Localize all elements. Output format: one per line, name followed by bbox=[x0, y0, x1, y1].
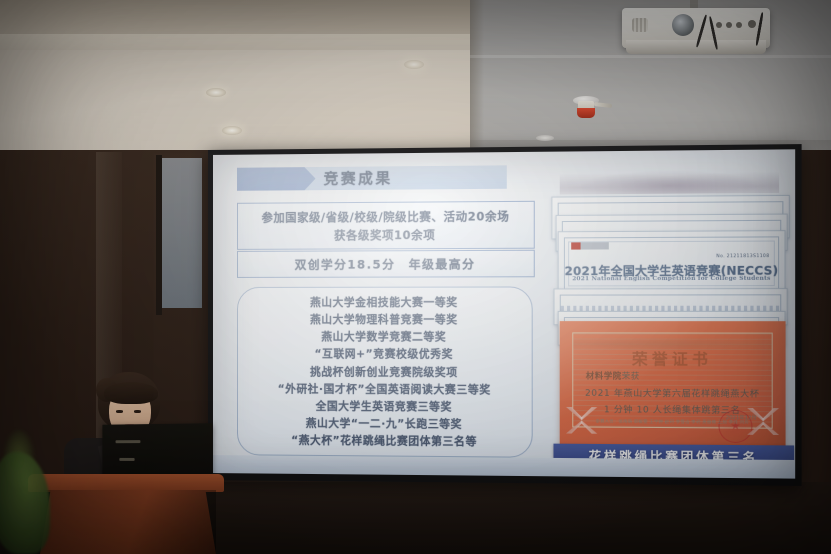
presentation-photo: 竞赛成果 参加国家级/省级/校级/院级比赛、活动20余场 获各级奖项10余项 双… bbox=[0, 0, 831, 554]
neccs-logo-icon bbox=[571, 242, 609, 249]
projector-port bbox=[726, 22, 732, 28]
projection-screen: 竞赛成果 参加国家级/省级/校级/院级比赛、活动20余场 获各级奖项10余项 双… bbox=[208, 144, 802, 486]
slide-title: 竞赛成果 bbox=[324, 164, 508, 191]
certificate-ornament bbox=[560, 166, 779, 194]
list-item: 燕山大学金相技能大赛一等奖 bbox=[310, 294, 458, 309]
list-item: 挑战杯创新创业竞赛院级奖项 bbox=[310, 364, 458, 380]
ceiling-seam bbox=[470, 55, 831, 58]
honour-title: 荣誉证书 bbox=[573, 348, 771, 370]
window bbox=[160, 158, 202, 308]
certificate-stack: No. 21211813S1108 2021年全国大学生英语竞赛(NECCS) … bbox=[549, 164, 790, 466]
window-frame bbox=[156, 155, 162, 315]
credits-text: 双创学分18.5分 年级最高分 bbox=[295, 256, 476, 273]
summary-box-participation: 参加国家级/省级/校级/院级比赛、活动20余场 获各级奖项10余项 bbox=[237, 201, 535, 250]
podium-shading bbox=[40, 490, 216, 554]
certificate-neccs: No. 21211813S1108 2021年全国大学生英语竞赛(NECCS) … bbox=[558, 230, 786, 296]
projector-lens-icon bbox=[672, 14, 694, 36]
list-item: 燕山大学数学竞赛二等奖 bbox=[321, 329, 446, 344]
participation-line-1: 参加国家级/省级/校级/院级比赛、活动20余场 bbox=[262, 208, 510, 226]
honour-recipient: 材料学院荣获 bbox=[586, 370, 640, 381]
list-item: 全国大学生英语竞赛三等奖 bbox=[316, 398, 452, 414]
hair-fringe bbox=[104, 382, 158, 404]
honour-participants: 参赛人员：张雨萌 郭敏雯 王宇婷 赵珂 李雪洁 李玥 黄雅楠 王旭 李佳 刘芳 bbox=[584, 418, 761, 425]
ceiling-vent bbox=[536, 135, 554, 141]
neccs-subtitle: 2021 National English Competition for Co… bbox=[559, 276, 785, 283]
list-item: 燕山大学“一二·九”长跑三等奖 bbox=[306, 416, 462, 432]
certificate-number: No. 21211813S1108 bbox=[716, 254, 769, 259]
eye bbox=[134, 410, 141, 413]
list-item: “燕大杯”花样跳绳比赛团体第三名等 bbox=[291, 433, 477, 450]
laptop-logo-icon bbox=[119, 458, 134, 461]
sprinkler-head-icon bbox=[577, 108, 595, 118]
awards-list: 燕山大学金相技能大赛一等奖 燕山大学物理科普竞赛一等奖 燕山大学数学竞赛二等奖 … bbox=[237, 286, 533, 457]
arrow-shape-icon bbox=[237, 167, 316, 191]
certificate-honour: 荣誉证书 材料学院荣获 2021 年燕山大学第六届花样跳绳燕大杯 1 分钟 10… bbox=[560, 321, 786, 456]
downlight-icon bbox=[206, 88, 226, 97]
slide-content: 竞赛成果 参加国家级/省级/校级/院级比赛、活动20余场 获各级奖项10余项 双… bbox=[213, 149, 795, 478]
projector-vent bbox=[632, 18, 648, 32]
projector-port bbox=[716, 22, 722, 28]
eye bbox=[116, 410, 123, 413]
slide-footer-band bbox=[213, 455, 795, 479]
participation-line-2: 获各级奖项10余项 bbox=[334, 226, 435, 243]
honour-inner-panel: 荣誉证书 材料学院荣获 2021 年燕山大学第六届花样跳绳燕大杯 1 分钟 10… bbox=[572, 332, 772, 428]
downlight-icon bbox=[222, 126, 242, 135]
honour-line-2: 2021 年燕山大学第六届花样跳绳燕大杯 bbox=[573, 387, 771, 400]
list-item: “互联网+”竞赛校级优秀奖 bbox=[315, 347, 454, 362]
list-item: “外研社·国才杯”全国英语阅读大赛三等奖 bbox=[278, 381, 491, 397]
screen-surface: 竞赛成果 参加国家级/省级/校级/院级比赛、活动20余场 获各级奖项10余项 双… bbox=[213, 149, 795, 478]
projector-port bbox=[736, 22, 742, 28]
projector-port bbox=[748, 20, 756, 28]
laptop-label bbox=[116, 440, 141, 443]
summary-box-credits: 双创学分18.5分 年级最高分 bbox=[237, 250, 535, 278]
list-item: 燕山大学物理科普竞赛一等奖 bbox=[310, 312, 458, 327]
downlight-icon bbox=[404, 60, 424, 69]
